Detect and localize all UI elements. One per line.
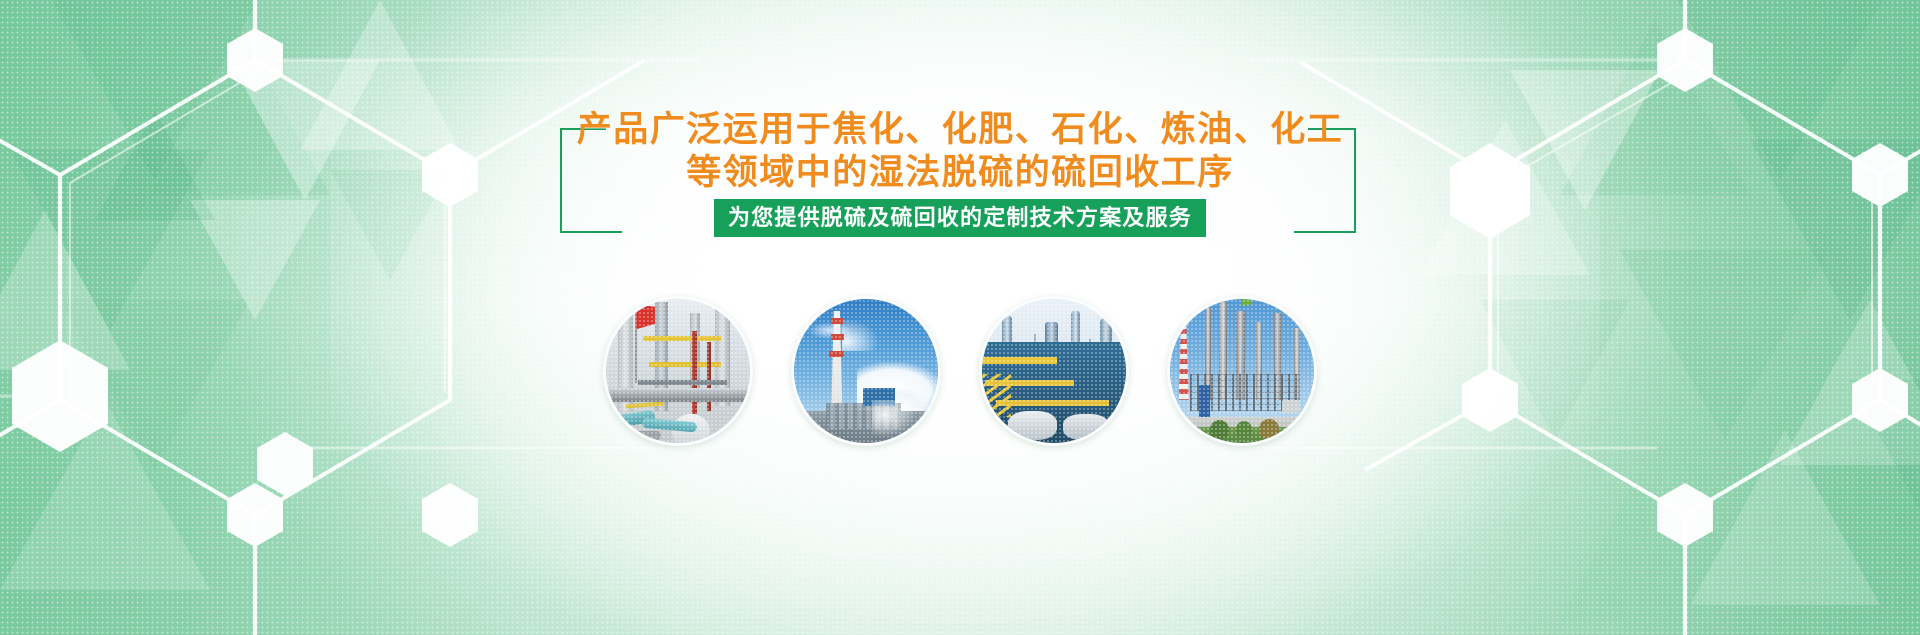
photo-strip: [603, 296, 1317, 446]
promo-banner: 产品广泛运用于焦化、化肥、石化、炼油、化工 等领域中的湿法脱硫的硫回收工序 为您…: [0, 0, 1920, 635]
banner-subtitle-bar: 为您提供脱硫及硫回收的定制技术方案及服务: [714, 199, 1206, 237]
banner-headline: 产品广泛运用于焦化、化肥、石化、炼油、化工 等领域中的湿法脱硫的硫回收工序: [0, 108, 1920, 194]
banner-content: 产品广泛运用于焦化、化肥、石化、炼油、化工 等领域中的湿法脱硫的硫回收工序 为您…: [0, 0, 1920, 635]
photo-chimney-stack: [791, 296, 941, 446]
photo-process-platform: [979, 296, 1129, 446]
photo-refinery-columns: [1167, 296, 1317, 446]
photo-pipework-plant: [603, 296, 753, 446]
